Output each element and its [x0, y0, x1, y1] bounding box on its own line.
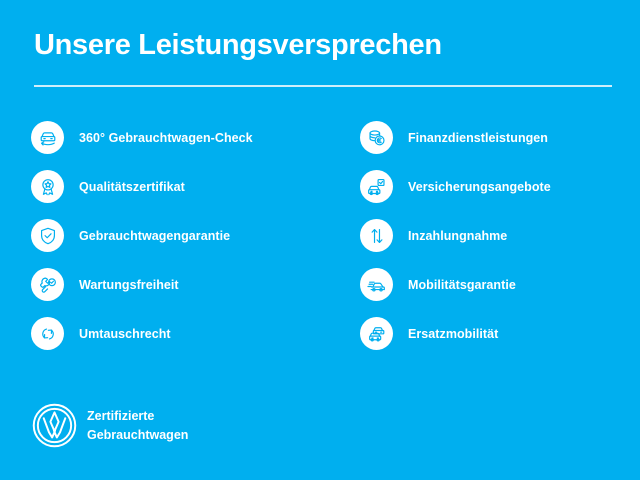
- award-rosette-icon: [31, 170, 64, 203]
- list-item-label: 360° Gebrauchtwagen-Check: [79, 131, 253, 145]
- list-item-label: Inzahlungnahme: [408, 229, 507, 243]
- promises-slide: Unsere Leistungsversprechen 360° Gebrauc…: [0, 0, 640, 480]
- brand-footer-line1: Zertifizierte: [87, 407, 188, 425]
- list-item-label: Qualitätszertifikat: [79, 180, 185, 194]
- brand-footer-line2: Gebrauchtwagen: [87, 426, 188, 444]
- vw-logo-icon: [31, 402, 78, 449]
- list-item-label: Gebrauchtwagengarantie: [79, 229, 230, 243]
- car-360-check-icon: [31, 121, 64, 154]
- promises-right-column: Finanzdienstleistungen Versicheru: [320, 121, 640, 366]
- list-item: Qualitätszertifikat: [31, 170, 320, 203]
- list-item: Inzahlungnahme: [360, 219, 640, 252]
- promises-left-column: 360° Gebrauchtwagen-Check Qualitätszerti…: [0, 121, 320, 366]
- list-item: Umtauschrecht: [31, 317, 320, 350]
- list-item-label: Wartungsfreiheit: [79, 278, 179, 292]
- car-motion-icon: [360, 268, 393, 301]
- list-item: Ersatzmobilität: [360, 317, 640, 350]
- list-item: Gebrauchtwagengarantie: [31, 219, 320, 252]
- list-item-label: Finanzdienstleistungen: [408, 131, 548, 145]
- list-item: Wartungsfreiheit: [31, 268, 320, 301]
- coins-euro-icon: [360, 121, 393, 154]
- brand-footer: Zertifizierte Gebrauchtwagen: [31, 402, 188, 449]
- brand-footer-text: Zertifizierte Gebrauchtwagen: [87, 407, 188, 443]
- list-item: Mobilitätsgarantie: [360, 268, 640, 301]
- title-divider: [34, 85, 612, 87]
- up-down-arrows-icon: [360, 219, 393, 252]
- promises-columns: 360° Gebrauchtwagen-Check Qualitätszerti…: [0, 121, 640, 366]
- exchange-arrows-icon: [31, 317, 64, 350]
- list-item-label: Umtauschrecht: [79, 327, 171, 341]
- list-item-label: Ersatzmobilität: [408, 327, 498, 341]
- car-checklist-icon: [360, 170, 393, 203]
- two-cars-icon: [360, 317, 393, 350]
- shield-check-icon: [31, 219, 64, 252]
- list-item-label: Versicherungsangebote: [408, 180, 551, 194]
- list-item-label: Mobilitätsgarantie: [408, 278, 516, 292]
- wrench-check-icon: [31, 268, 64, 301]
- page-title: Unsere Leistungsversprechen: [34, 30, 442, 62]
- list-item: Finanzdienstleistungen: [360, 121, 640, 154]
- list-item: 360° Gebrauchtwagen-Check: [31, 121, 320, 154]
- list-item: Versicherungsangebote: [360, 170, 640, 203]
